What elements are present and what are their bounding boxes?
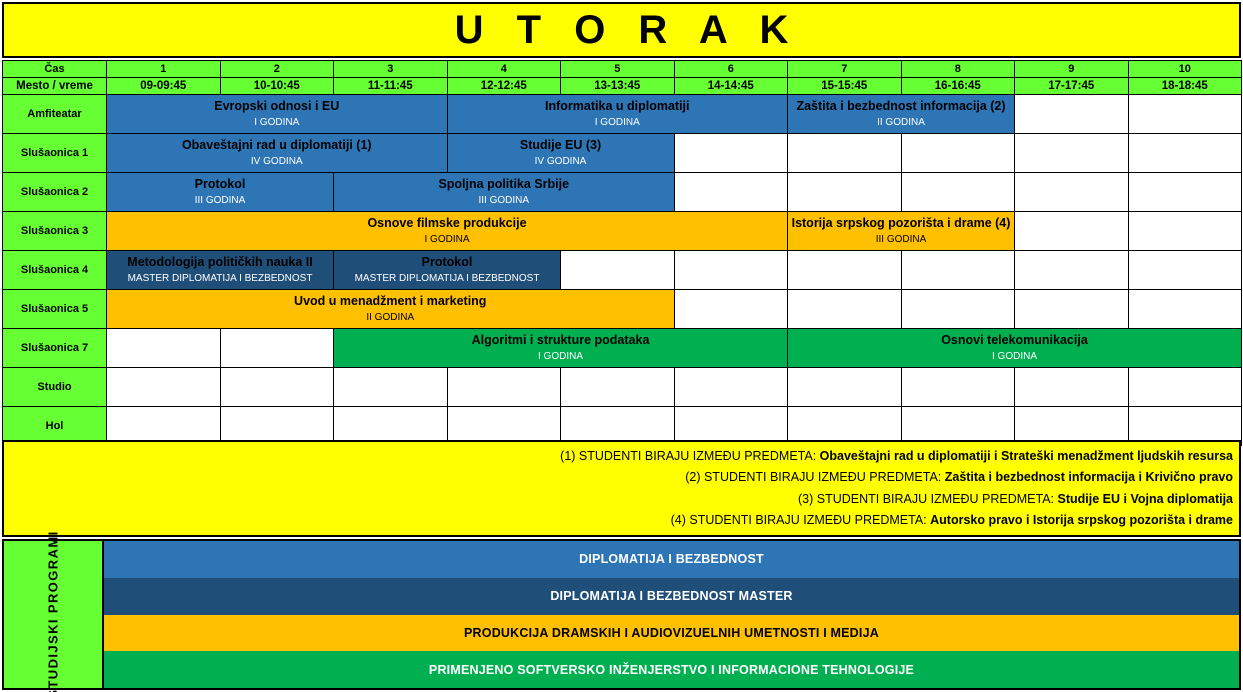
course-name: Spoljna politika Srbije xyxy=(334,177,674,193)
footnote-4: (4) STUDENTI BIRAJU IZMEĐU PREDMETA: Aut… xyxy=(671,510,1233,532)
empty-slot-cell[interactable] xyxy=(674,134,788,173)
schedule-row: Slušaonica 3Osnove filmske produkcijeI G… xyxy=(3,212,1242,251)
empty-slot-cell[interactable] xyxy=(561,251,675,290)
period-header-10: 10 xyxy=(1128,61,1242,78)
course-name: Uvod u menadžment i marketing xyxy=(107,294,674,310)
footnote-subjects: Autorsko pravo i Istorija srpskog pozori… xyxy=(930,513,1233,527)
empty-slot-cell[interactable] xyxy=(1128,134,1242,173)
course-name: Informatika u diplomatiji xyxy=(448,99,788,115)
empty-slot-cell[interactable] xyxy=(788,251,902,290)
course-name: Osnovi telekomunikacija xyxy=(788,333,1241,349)
period-header-7: 7 xyxy=(788,61,902,78)
period-header-6: 6 xyxy=(674,61,788,78)
time-header-2: 10-10:45 xyxy=(220,78,334,95)
course-year: MASTER DIPLOMATIJA I BEZBEDNOST xyxy=(334,273,560,286)
course-year: IV GODINA xyxy=(448,156,674,169)
course-name: Zaštita i bezbednost informacija (2) xyxy=(788,99,1014,115)
time-header-1: 09-09:45 xyxy=(107,78,221,95)
room-label-3: Slušaonica 2 xyxy=(3,173,107,212)
empty-slot-cell[interactable] xyxy=(901,173,1015,212)
course-name: Obaveštajni rad u diplomatiji (1) xyxy=(107,138,447,154)
time-header-7: 15-15:45 xyxy=(788,78,902,95)
legend-vertical-label: STUDIJSKI PROGRAMI xyxy=(4,541,104,688)
empty-slot-cell[interactable] xyxy=(220,368,334,407)
course-year: I GODINA xyxy=(107,234,787,247)
schedule-row: Slušaonica 2ProtokolIII GODINASpoljna po… xyxy=(3,173,1242,212)
course-name: Evropski odnosi i EU xyxy=(107,99,447,115)
footnote-prefix: (3) STUDENTI BIRAJU IZMEĐU PREDMETA: xyxy=(798,492,1058,506)
course-name: Algoritmi i strukture podataka xyxy=(334,333,787,349)
time-header-3: 11-11:45 xyxy=(334,78,448,95)
room-label-2: Slušaonica 1 xyxy=(3,134,107,173)
period-header-1: 1 xyxy=(107,61,221,78)
empty-slot-cell[interactable] xyxy=(788,173,902,212)
room-label-1: Amfiteatar xyxy=(3,95,107,134)
empty-slot-cell[interactable] xyxy=(1128,368,1242,407)
room-label-7: Slušaonica 7 xyxy=(3,329,107,368)
footnote-prefix: (2) STUDENTI BIRAJU IZMEĐU PREDMETA: xyxy=(685,470,945,484)
course-name: Istorija srpskog pozorišta i drame (4) xyxy=(788,216,1014,232)
time-header-5: 13-13:45 xyxy=(561,78,675,95)
empty-slot-cell[interactable] xyxy=(901,368,1015,407)
empty-slot-cell[interactable] xyxy=(901,290,1015,329)
course-cell[interactable]: Zaštita i bezbednost informacija (2)II G… xyxy=(788,95,1015,134)
footnote-subjects: Studije EU i Vojna diplomatija xyxy=(1058,492,1233,506)
course-cell[interactable]: Informatika u diplomatijiI GODINA xyxy=(447,95,788,134)
course-year: I GODINA xyxy=(107,117,447,130)
course-name: Studije EU (3) xyxy=(448,138,674,154)
day-title-banner: U T O R A K xyxy=(2,2,1241,58)
period-header-4: 4 xyxy=(447,61,561,78)
course-cell[interactable]: Algoritmi i strukture podatakaI GODINA xyxy=(334,329,788,368)
period-header-9: 9 xyxy=(1015,61,1129,78)
course-year: I GODINA xyxy=(448,117,788,130)
legend-band-1: DIPLOMATIJA I BEZBEDNOST xyxy=(104,541,1239,578)
course-name: Metodologija političkih nauka II xyxy=(107,255,333,271)
footnote-prefix: (4) STUDENTI BIRAJU IZMEĐU PREDMETA: xyxy=(671,513,931,527)
empty-slot-cell[interactable] xyxy=(788,290,902,329)
schedule-table-body: AmfiteatarEvropski odnosi i EUI GODINAIn… xyxy=(3,95,1242,446)
footnote-1: (1) STUDENTI BIRAJU IZMEĐU PREDMETA: Oba… xyxy=(560,446,1233,468)
footnote-subjects: Obaveštajni rad u diplomatiji i Stratešk… xyxy=(820,449,1233,463)
period-header-3: 3 xyxy=(334,61,448,78)
footnote-subjects: Zaštita i bezbednost informacija i Krivi… xyxy=(945,470,1233,484)
course-cell[interactable]: Spoljna politika SrbijeIII GODINA xyxy=(334,173,675,212)
empty-slot-cell[interactable] xyxy=(1128,173,1242,212)
course-year: III GODINA xyxy=(788,234,1014,247)
empty-slot-cell[interactable] xyxy=(901,251,1015,290)
empty-slot-cell[interactable] xyxy=(901,134,1015,173)
empty-slot-cell[interactable] xyxy=(1015,251,1129,290)
course-cell[interactable]: Uvod u menadžment i marketingII GODINA xyxy=(107,290,675,329)
empty-slot-cell[interactable] xyxy=(561,368,675,407)
course-year: II GODINA xyxy=(788,117,1014,130)
empty-slot-cell[interactable] xyxy=(1128,212,1242,251)
page-title: U T O R A K xyxy=(444,10,800,50)
legend-band-4: PRIMENJENO SOFTVERSKO INŽENJERSTVO I INF… xyxy=(104,651,1239,688)
period-header-row: Čas12345678910 xyxy=(3,61,1242,78)
schedule-table-header: Čas12345678910 Mesto / vreme09-09:4510-1… xyxy=(3,61,1242,95)
room-label-5: Slušaonica 4 xyxy=(3,251,107,290)
schedule-row: Slušaonica 7 Algoritmi i strukture podat… xyxy=(3,329,1242,368)
empty-slot-cell[interactable] xyxy=(1015,173,1129,212)
schedule-row: Studio xyxy=(3,368,1242,407)
empty-slot-cell[interactable] xyxy=(1128,290,1242,329)
empty-slot-cell[interactable] xyxy=(1015,290,1129,329)
room-label-6: Slušaonica 5 xyxy=(3,290,107,329)
legend-band-list: DIPLOMATIJA I BEZBEDNOSTDIPLOMATIJA I BE… xyxy=(104,541,1239,688)
schedule-row: AmfiteatarEvropski odnosi i EUI GODINAIn… xyxy=(3,95,1242,134)
empty-slot-cell[interactable] xyxy=(107,329,221,368)
course-year: I GODINA xyxy=(334,351,787,364)
course-cell[interactable]: Obaveštajni rad u diplomatiji (1)IV GODI… xyxy=(107,134,448,173)
course-year: IV GODINA xyxy=(107,156,447,169)
schedule-row: Slušaonica 1Obaveštajni rad u diplomatij… xyxy=(3,134,1242,173)
course-year: MASTER DIPLOMATIJA I BEZBEDNOST xyxy=(107,273,333,286)
course-year: III GODINA xyxy=(107,195,333,208)
period-header-label: Čas xyxy=(3,61,107,78)
period-header-2: 2 xyxy=(220,61,334,78)
course-name: Protokol xyxy=(334,255,560,271)
course-year: II GODINA xyxy=(107,312,674,325)
course-name: Osnove filmske produkcije xyxy=(107,216,787,232)
time-header-row: Mesto / vreme09-09:4510-10:4511-11:4512-… xyxy=(3,78,1242,95)
empty-slot-cell[interactable] xyxy=(1015,212,1129,251)
empty-slot-cell[interactable] xyxy=(447,368,561,407)
course-cell[interactable]: Metodologija političkih nauka IIMASTER D… xyxy=(107,251,334,290)
footnote-2: (2) STUDENTI BIRAJU IZMEĐU PREDMETA: Zaš… xyxy=(685,467,1233,489)
empty-slot-cell[interactable] xyxy=(1015,134,1129,173)
schedule-table: Čas12345678910 Mesto / vreme09-09:4510-1… xyxy=(2,60,1242,446)
time-header-8: 16-16:45 xyxy=(901,78,1015,95)
empty-slot-cell[interactable] xyxy=(1128,95,1242,134)
empty-slot-cell[interactable] xyxy=(107,368,221,407)
course-cell[interactable]: ProtokolMASTER DIPLOMATIJA I BEZBEDNOST xyxy=(334,251,561,290)
footnotes-block: (1) STUDENTI BIRAJU IZMEĐU PREDMETA: Oba… xyxy=(2,440,1241,537)
empty-slot-cell[interactable] xyxy=(1015,95,1129,134)
empty-slot-cell[interactable] xyxy=(674,290,788,329)
footnote-prefix: (1) STUDENTI BIRAJU IZMEĐU PREDMETA: xyxy=(560,449,820,463)
room-label-4: Slušaonica 3 xyxy=(3,212,107,251)
legend-band-2: DIPLOMATIJA I BEZBEDNOST MASTER xyxy=(104,578,1239,615)
time-header-9: 17-17:45 xyxy=(1015,78,1129,95)
course-cell[interactable]: Studije EU (3)IV GODINA xyxy=(447,134,674,173)
timetable-page: U T O R A K Čas12345678910 Mesto / vreme… xyxy=(0,0,1243,692)
empty-slot-cell[interactable] xyxy=(220,329,334,368)
schedule-row: Slušaonica 5Uvod u menadžment i marketin… xyxy=(3,290,1242,329)
course-cell[interactable]: Evropski odnosi i EUI GODINA xyxy=(107,95,448,134)
time-header-4: 12-12:45 xyxy=(447,78,561,95)
course-cell[interactable]: Istorija srpskog pozorišta i drame (4)II… xyxy=(788,212,1015,251)
empty-slot-cell[interactable] xyxy=(788,134,902,173)
empty-slot-cell[interactable] xyxy=(1128,251,1242,290)
course-cell[interactable]: ProtokolIII GODINA xyxy=(107,173,334,212)
legend-label-text: STUDIJSKI PROGRAMI xyxy=(46,530,61,692)
empty-slot-cell[interactable] xyxy=(674,368,788,407)
empty-slot-cell[interactable] xyxy=(334,368,448,407)
time-header-10: 18-18:45 xyxy=(1128,78,1242,95)
course-cell[interactable]: Osnovi telekomunikacijaI GODINA xyxy=(788,329,1242,368)
time-header-6: 14-14:45 xyxy=(674,78,788,95)
room-label-8: Studio xyxy=(3,368,107,407)
course-name: Protokol xyxy=(107,177,333,193)
empty-slot-cell[interactable] xyxy=(788,368,902,407)
course-year: I GODINA xyxy=(788,351,1241,364)
study-programs-legend: STUDIJSKI PROGRAMI DIPLOMATIJA I BEZBEDN… xyxy=(2,539,1241,690)
place-time-header-label: Mesto / vreme xyxy=(3,78,107,95)
period-header-8: 8 xyxy=(901,61,1015,78)
course-cell[interactable]: Osnove filmske produkcijeI GODINA xyxy=(107,212,788,251)
empty-slot-cell[interactable] xyxy=(674,173,788,212)
schedule-row: Slušaonica 4Metodologija političkih nauk… xyxy=(3,251,1242,290)
footnote-3: (3) STUDENTI BIRAJU IZMEĐU PREDMETA: Stu… xyxy=(798,489,1233,511)
empty-slot-cell[interactable] xyxy=(1015,368,1129,407)
legend-band-3: PRODUKCIJA DRAMSKIH I AUDIOVIZUELNIH UME… xyxy=(104,615,1239,652)
course-year: III GODINA xyxy=(334,195,674,208)
empty-slot-cell[interactable] xyxy=(674,251,788,290)
period-header-5: 5 xyxy=(561,61,675,78)
